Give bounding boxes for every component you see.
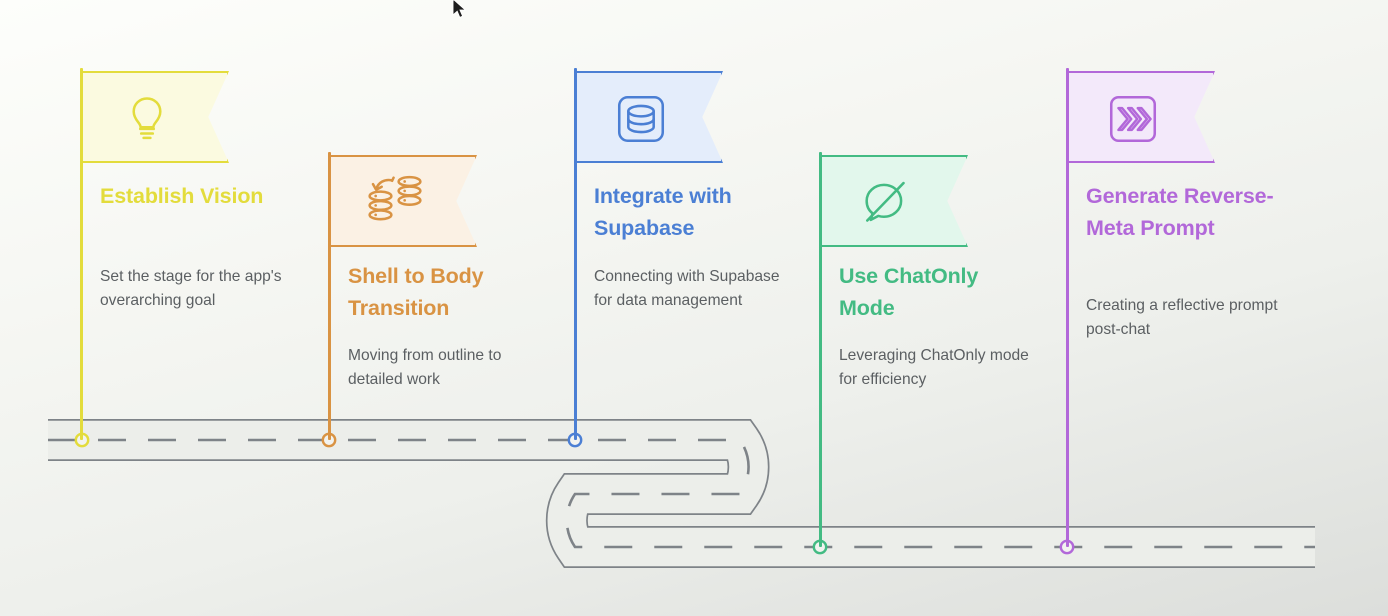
chat-off-icon [857, 174, 915, 232]
milestone-flag [1067, 71, 1215, 163]
milestone-description: Creating a reflective prompt post-chat [1086, 294, 1282, 343]
milestone-flag [329, 155, 477, 247]
database-icon [612, 90, 670, 148]
milestone-title: Generate Reverse-Meta Prompt [1086, 181, 1274, 245]
lightbulb-icon [118, 90, 176, 148]
flag-icon-wrap [822, 157, 950, 249]
triple-chevron-icon [1104, 90, 1162, 148]
roadmap-diagram: Establish VisionSet the stage for the ap… [0, 0, 1388, 616]
milestone-description: Leveraging ChatOnly mode for efficiency [839, 344, 1035, 393]
milestone-flag [820, 155, 968, 247]
flag-icon-wrap [83, 73, 211, 165]
flag-icon-wrap [331, 157, 459, 249]
milestone-description: Connecting with Supabase for data manage… [594, 265, 790, 314]
milestone-description: Set the stage for the app's overarching … [100, 265, 296, 314]
flag-icon-wrap [1069, 73, 1197, 165]
milestone-flag [575, 71, 723, 163]
milestone-title: Shell to Body Transition [348, 261, 536, 325]
mouse-cursor-icon [451, 0, 469, 22]
milestone-description: Moving from outline to detailed work [348, 344, 544, 393]
milestone-title: Establish Vision [100, 181, 288, 213]
data-migration-icon [366, 174, 424, 232]
milestone-flag [81, 71, 229, 163]
milestone-title: Use ChatOnly Mode [839, 261, 1027, 325]
milestone-title: Integrate with Supabase [594, 181, 782, 245]
flag-icon-wrap [577, 73, 705, 165]
